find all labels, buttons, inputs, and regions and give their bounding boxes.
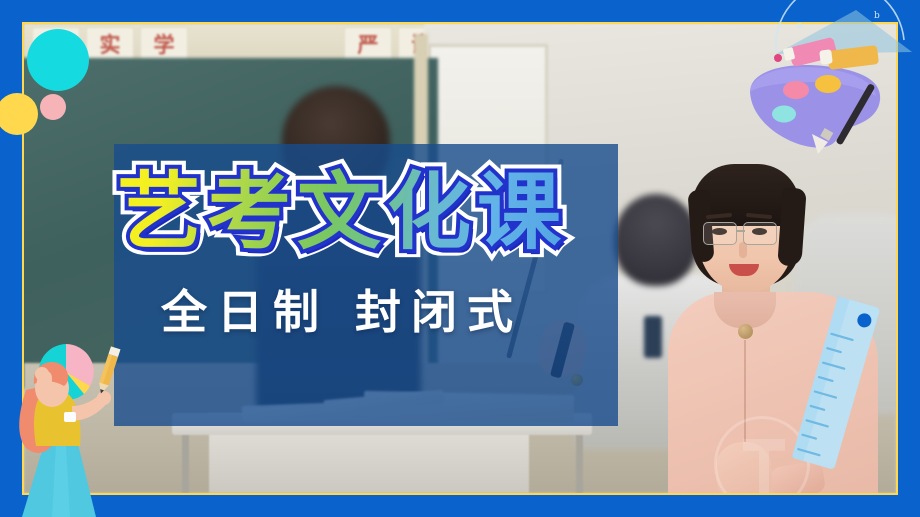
main-title: 艺考文化课 艺考文化课 艺考文化课 [96, 158, 588, 266]
main-title-text: 艺考文化课 [96, 158, 588, 266]
wall-card: 严 [344, 27, 392, 61]
ruler-icon [788, 293, 884, 473]
desk-leg-left [182, 429, 189, 493]
art-palette-decor: a b c [744, 0, 914, 156]
bottom-blue-band [0, 497, 920, 517]
pink-circle-decor [40, 94, 66, 120]
cyan-circle-decor [27, 29, 89, 91]
desk-leg-right [576, 429, 583, 493]
pencil-icon [96, 346, 120, 395]
poster-root: 求 实 学 严 谨 善 思 [0, 0, 920, 517]
paint-blob-cyan [772, 106, 796, 123]
glasses-lens-left-icon [703, 222, 737, 245]
student-illustration-decor [0, 332, 132, 517]
triangle-label-b: b [874, 11, 880, 21]
paint-blob-yellow [815, 75, 841, 93]
subtitle-text: 全日制 封闭式 [96, 286, 588, 339]
teacher-nose [739, 242, 747, 258]
triangle-label-a: a [797, 21, 803, 31]
glasses-lens-right-icon [743, 222, 777, 245]
wall-card: 实 [86, 27, 134, 61]
glasses-bridge-icon [736, 230, 745, 232]
teacher-placket [744, 340, 746, 450]
wall-card: 学 [140, 27, 188, 61]
teacher-hair-right [777, 187, 806, 266]
paint-blob-pink [783, 81, 809, 99]
teacher-button [738, 324, 753, 339]
